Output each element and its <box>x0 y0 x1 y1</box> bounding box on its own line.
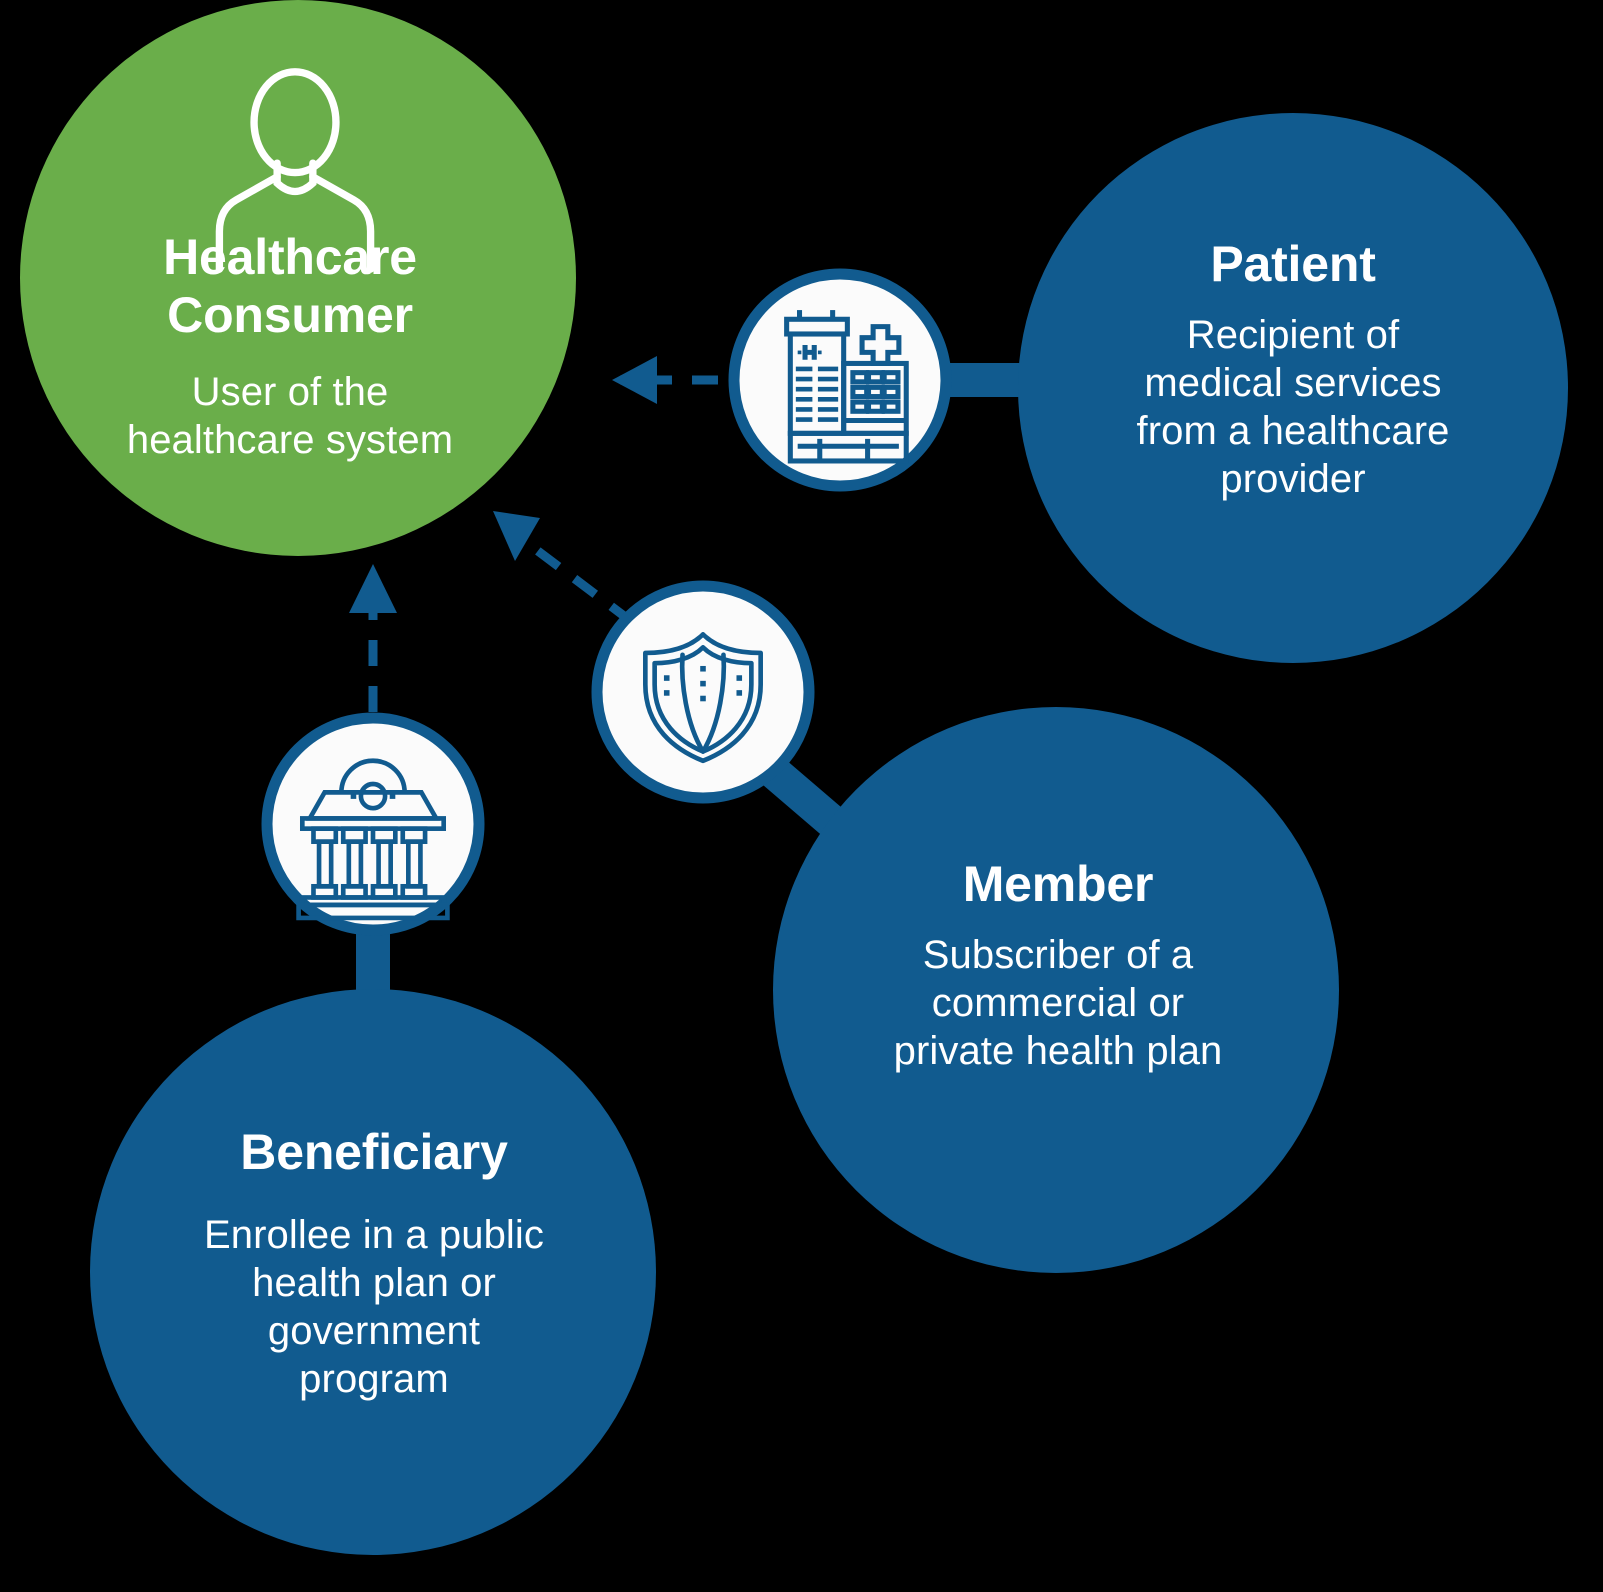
node-beneficiary[interactable] <box>90 989 656 1555</box>
bank-badge[interactable] <box>267 718 479 930</box>
diagram-canvas: Healthcare Consumer User of the healthca… <box>0 0 1603 1592</box>
diagram-graphics <box>0 0 1603 1592</box>
node-member[interactable] <box>773 707 1339 1273</box>
arrow-hospital-to-consumer <box>612 356 718 404</box>
node-healthcare-consumer[interactable] <box>20 0 576 556</box>
shield-badge[interactable] <box>597 586 809 798</box>
hospital-badge[interactable] <box>734 274 946 486</box>
arrow-shield-to-consumer <box>493 511 632 622</box>
node-patient[interactable] <box>1018 113 1568 663</box>
arrow-bank-to-consumer <box>349 564 397 712</box>
